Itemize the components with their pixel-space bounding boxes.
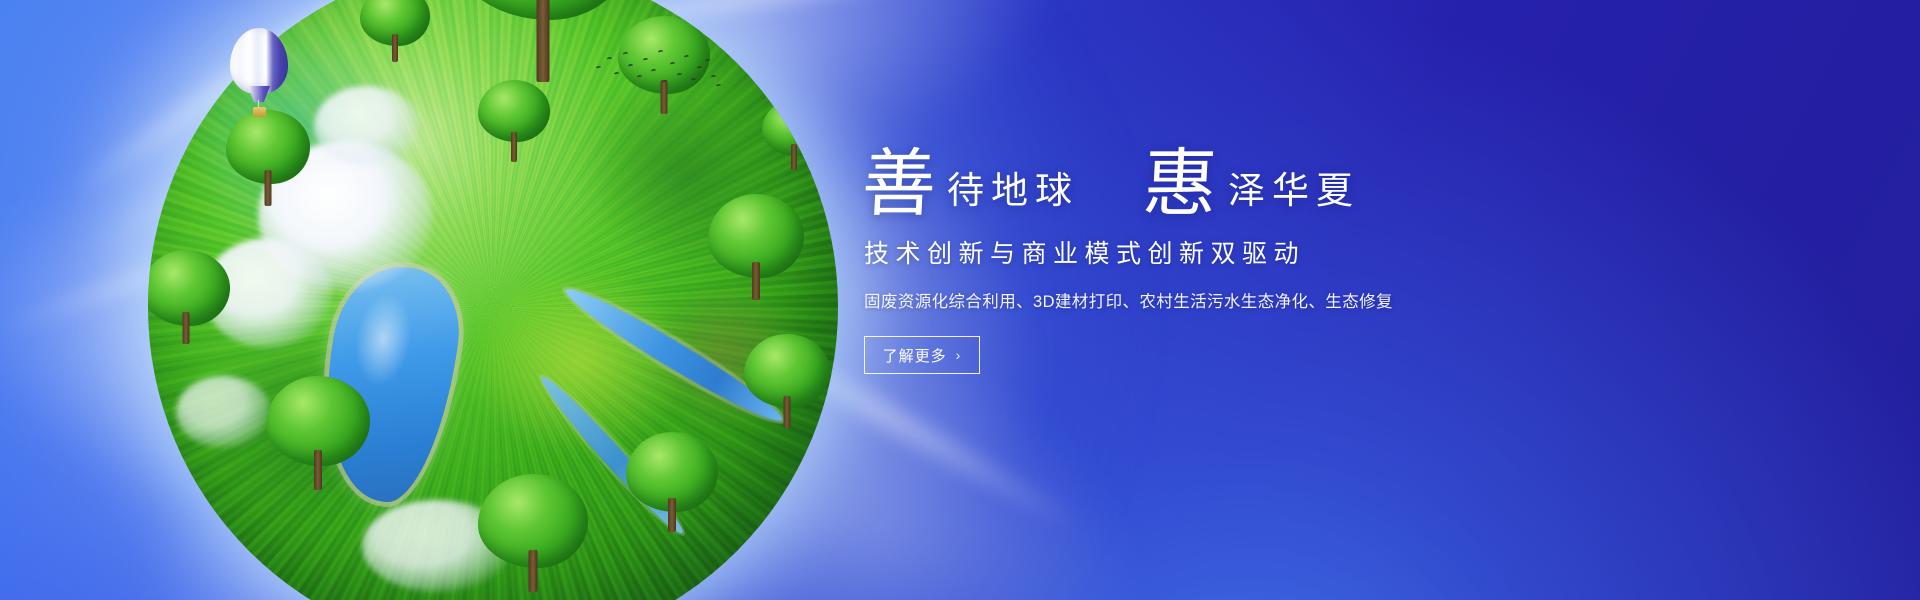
headline-rest-2: 泽华夏	[1228, 172, 1360, 220]
tree-icon	[478, 80, 550, 160]
balloon-skirt	[248, 86, 270, 102]
headline-phrase-2: 惠 泽华夏	[1143, 149, 1360, 220]
learn-more-label: 了解更多	[883, 345, 947, 366]
ground-cloud	[314, 86, 419, 166]
tree-icon	[708, 194, 804, 298]
chevron-right-icon: ›	[956, 348, 962, 362]
subtitle: 技术创新与商业模式创新双驱动	[864, 234, 1562, 270]
tree-icon	[266, 376, 370, 488]
headline-big-char-1: 善	[860, 149, 938, 220]
tree-icon	[148, 250, 230, 344]
page-title: 善 待地球 惠 泽华夏	[862, 124, 1562, 220]
headline-big-char-2: 惠	[1141, 149, 1219, 220]
headline-phrase-1: 善 待地球	[862, 149, 1079, 220]
tree-icon	[226, 110, 310, 202]
hero-banner: 善 待地球 惠 泽华夏 技术创新与商业模式创新双驱动 固废资源化综合利用、3D建…	[0, 0, 1920, 600]
tree-icon	[626, 432, 718, 530]
tagline: 固废资源化综合利用、3D建材打印、农村生活污水生态净化、生态修复	[864, 288, 1562, 312]
lake-highlight	[349, 289, 418, 390]
headline-rest-1: 待地球	[947, 172, 1079, 220]
learn-more-button[interactable]: 了解更多 ›	[864, 336, 980, 374]
tree-icon	[360, 0, 430, 62]
ground-cloud	[176, 376, 271, 448]
tree-icon	[478, 474, 588, 590]
bird-flock-icon	[592, 48, 722, 94]
balloon-envelope	[230, 28, 288, 94]
hot-air-balloon-icon	[230, 28, 288, 120]
hero-content: 善 待地球 惠 泽华夏 技术创新与商业模式创新双驱动 固废资源化综合利用、3D建…	[862, 124, 1562, 374]
tree-icon	[744, 334, 830, 426]
tree-icon	[762, 100, 826, 170]
balloon-basket	[253, 107, 266, 117]
